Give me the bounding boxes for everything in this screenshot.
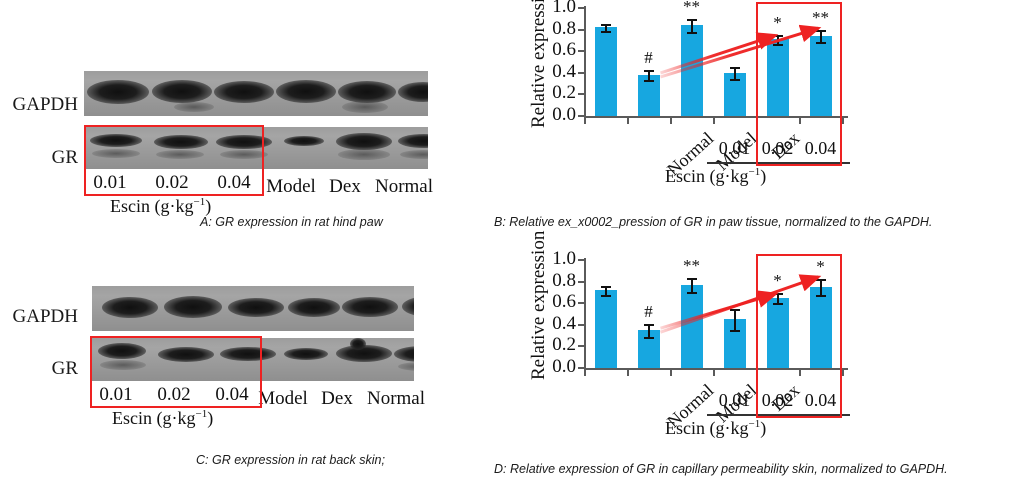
x-axis-title-text: Escin (g·kg: [665, 418, 748, 438]
escin-group-underline: [707, 414, 850, 416]
y-axis-tick: [578, 93, 584, 95]
blot-band: [98, 343, 146, 359]
blot-a-strip-gr: [84, 127, 428, 169]
blot-band-faint: [338, 149, 390, 160]
blot-c-row-label-gr: GR: [2, 358, 78, 380]
blot-band-faint: [400, 150, 428, 159]
blot-band: [398, 82, 428, 102]
blot-a-row-label-gapdh: GAPDH: [2, 94, 78, 116]
blot-band: [216, 135, 272, 149]
error-bar-cap: [773, 44, 783, 46]
error-bar-cap: [687, 292, 697, 294]
blot-band: [342, 297, 398, 317]
x-axis-title-close: ): [760, 418, 766, 438]
y-axis-tick-label: 0.0: [532, 104, 576, 126]
caption-b: B: Relative ex_x0002_pression of GR in p…: [494, 215, 932, 229]
blot-band-faint: [398, 362, 414, 371]
x-axis-tick: [713, 118, 715, 124]
blot-c-group-dex: Dex: [316, 388, 358, 410]
escin-caption-text: Escin (g·kg: [110, 196, 193, 216]
error-bar-cap: [644, 70, 654, 72]
bar: [767, 298, 789, 368]
x-axis-tick: [756, 370, 758, 376]
error-bar-cap: [730, 67, 740, 69]
blot-c-group-normal: Normal: [360, 388, 432, 410]
x-axis-tick: [713, 370, 715, 376]
x-axis-title-sup: −1: [748, 166, 760, 178]
blot-a-group-normal: Normal: [368, 176, 440, 198]
y-axis-tick: [578, 50, 584, 52]
significance-label: *: [756, 13, 800, 33]
blot-band: [338, 81, 396, 103]
error-bar-cap: [601, 31, 611, 33]
blot-band: [152, 80, 212, 103]
x-axis-title: Escin (g·kg−1): [665, 166, 766, 187]
blot-a-dose-0-02: 0.02: [146, 172, 198, 194]
blot-c-row-label-gapdh: GAPDH: [2, 306, 78, 328]
significance-label: *: [799, 257, 843, 277]
escin-group-underline: [707, 162, 850, 164]
error-bar-cap: [687, 32, 697, 34]
error-bar-cap: [601, 295, 611, 297]
error-bar-cap: [644, 337, 654, 339]
blot-band: [288, 298, 340, 317]
significance-label: #: [627, 302, 671, 322]
blot-a-row-label-gr: GR: [2, 147, 78, 169]
escin-caption-text: Escin (g·kg: [112, 408, 195, 428]
blot-band: [102, 297, 158, 318]
x-axis-title-sup: −1: [748, 418, 760, 430]
escin-caption-sup: −1: [195, 408, 207, 420]
blot-a-dose-0-01: 0.01: [84, 172, 136, 194]
blot-band: [158, 347, 214, 362]
y-axis-tick-label: 0.4: [532, 313, 576, 335]
x-axis-tick: [627, 118, 629, 124]
bar: [810, 287, 832, 368]
y-axis-tick: [578, 281, 584, 283]
x-axis-tick: [799, 118, 801, 124]
x-axis-tick: [584, 118, 586, 124]
x-axis-tick: [756, 118, 758, 124]
error-bar-cap: [773, 35, 783, 37]
y-axis-tick: [578, 115, 584, 117]
caption-d: D: Relative expression of GR in capillar…: [494, 462, 948, 476]
blot-band: [284, 348, 328, 360]
significance-label: **: [670, 0, 714, 17]
y-axis-tick: [578, 72, 584, 74]
blot-band: [87, 80, 149, 104]
x-axis-tick: [670, 370, 672, 376]
y-axis-tick-label: 0.8: [532, 18, 576, 40]
bar: [681, 25, 703, 116]
panel-d-chart: Relative expression0.00.20.40.60.81.0#**…: [512, 252, 1024, 457]
x-axis-title-close: ): [760, 166, 766, 186]
blot-band: [336, 133, 392, 150]
significance-label: #: [627, 48, 671, 68]
escin-caption-sup: −1: [193, 196, 205, 208]
error-bar-cap: [773, 293, 783, 295]
bar: [681, 285, 703, 368]
blot-band-faint: [174, 102, 214, 112]
error-bar-cap: [687, 278, 697, 280]
blot-band: [284, 136, 324, 146]
x-axis-tick: [842, 370, 844, 376]
blot-band: [394, 346, 414, 362]
error-bar-cap: [773, 303, 783, 305]
panel-c-blot: GAPDH GR 0.01 0.02 0.04 Model Dex Normal: [0, 268, 520, 443]
panel-a-blot: GAPDH GR 0.01 0.02 0.04: [0, 28, 520, 203]
x-axis-title: Escin (g·kg−1): [665, 418, 766, 439]
significance-label: **: [670, 256, 714, 276]
blot-a-group-dex: Dex: [324, 176, 366, 198]
y-axis-tick: [578, 7, 584, 9]
blot-band: [214, 81, 274, 103]
blot-c-strip-gr: [92, 338, 414, 381]
bar: [595, 290, 617, 368]
blot-band-faint: [100, 360, 146, 370]
blot-band: [90, 134, 142, 147]
x-axis-dose-label: 0.04: [795, 390, 847, 411]
error-bar-cap: [730, 309, 740, 311]
x-axis-line: [584, 368, 848, 370]
blot-band-faint: [342, 101, 388, 113]
x-axis-tick: [627, 370, 629, 376]
blot-a-dose-0-04: 0.04: [208, 172, 260, 194]
y-axis-tick-label: 0.4: [532, 61, 576, 83]
x-axis-tick: [584, 370, 586, 376]
blot-c-escin-caption: Escin (g·kg−1): [112, 408, 213, 429]
error-bar-cap: [644, 80, 654, 82]
panel-b-chart: Relative expression0.00.20.40.60.81.0#**…: [512, 0, 1024, 205]
error-bar-cap: [601, 286, 611, 288]
escin-caption-close: ): [205, 196, 211, 216]
blot-a-strip-gapdh: [84, 71, 428, 116]
blot-band-faint: [92, 149, 140, 158]
y-axis-tick-label: 0.2: [532, 82, 576, 104]
blot-band: [398, 134, 428, 148]
significance-label: *: [756, 271, 800, 291]
y-axis-tick-label: 1.0: [532, 0, 576, 18]
y-axis-line: [584, 258, 586, 370]
blot-a-group-model: Model: [258, 176, 324, 198]
bar: [810, 36, 832, 116]
blot-band: [402, 296, 414, 317]
error-bar-cap: [601, 24, 611, 26]
y-axis-tick: [578, 367, 584, 369]
blot-band: [276, 80, 336, 103]
y-axis-tick: [578, 302, 584, 304]
blot-band-faint: [220, 150, 268, 159]
error-bar-cap: [816, 279, 826, 281]
blot-band: [350, 338, 366, 350]
x-axis-dose-label: 0.04: [795, 138, 847, 159]
y-axis-tick: [578, 324, 584, 326]
y-axis-tick-label: 0.8: [532, 270, 576, 292]
blot-band-faint: [156, 150, 204, 159]
y-axis-tick: [578, 29, 584, 31]
y-axis-tick-label: 1.0: [532, 248, 576, 270]
x-axis-title-text: Escin (g·kg: [665, 166, 748, 186]
y-axis-tick: [578, 259, 584, 261]
blot-band: [154, 135, 208, 149]
error-bar: [734, 309, 736, 331]
error-bar-cap: [816, 30, 826, 32]
blot-band: [220, 347, 276, 361]
blot-a-escin-caption: Escin (g·kg−1): [110, 196, 211, 217]
blot-c-dose-0-02: 0.02: [148, 384, 200, 406]
significance-label: **: [799, 8, 843, 28]
error-bar-cap: [687, 19, 697, 21]
error-bar-cap: [730, 79, 740, 81]
caption-a: A: GR expression in rat hind paw: [200, 215, 383, 229]
blot-band: [164, 296, 222, 318]
y-axis-tick-label: 0.2: [532, 334, 576, 356]
y-axis-tick-label: 0.6: [532, 291, 576, 313]
error-bar-cap: [816, 295, 826, 297]
bar: [767, 39, 789, 116]
y-axis-tick: [578, 345, 584, 347]
y-axis-line: [584, 6, 586, 118]
x-axis-line: [584, 116, 848, 118]
caption-c: C: GR expression in rat back skin;: [196, 453, 385, 467]
blot-band: [228, 298, 284, 317]
error-bar-cap: [816, 42, 826, 44]
blot-c-dose-0-01: 0.01: [90, 384, 142, 406]
blot-c-group-model: Model: [250, 388, 316, 410]
figure-root: GAPDH GR 0.01 0.02 0.04: [0, 0, 1024, 488]
blot-c-strip-gapdh: [92, 286, 414, 331]
error-bar-cap: [730, 330, 740, 332]
escin-caption-close: ): [207, 408, 213, 428]
error-bar: [691, 278, 693, 292]
y-axis-tick-label: 0.0: [532, 356, 576, 378]
error-bar-cap: [644, 324, 654, 326]
bar: [595, 27, 617, 116]
x-axis-tick: [799, 370, 801, 376]
y-axis-tick-label: 0.6: [532, 39, 576, 61]
x-axis-tick: [670, 118, 672, 124]
x-axis-tick: [842, 118, 844, 124]
error-bar: [820, 279, 822, 295]
